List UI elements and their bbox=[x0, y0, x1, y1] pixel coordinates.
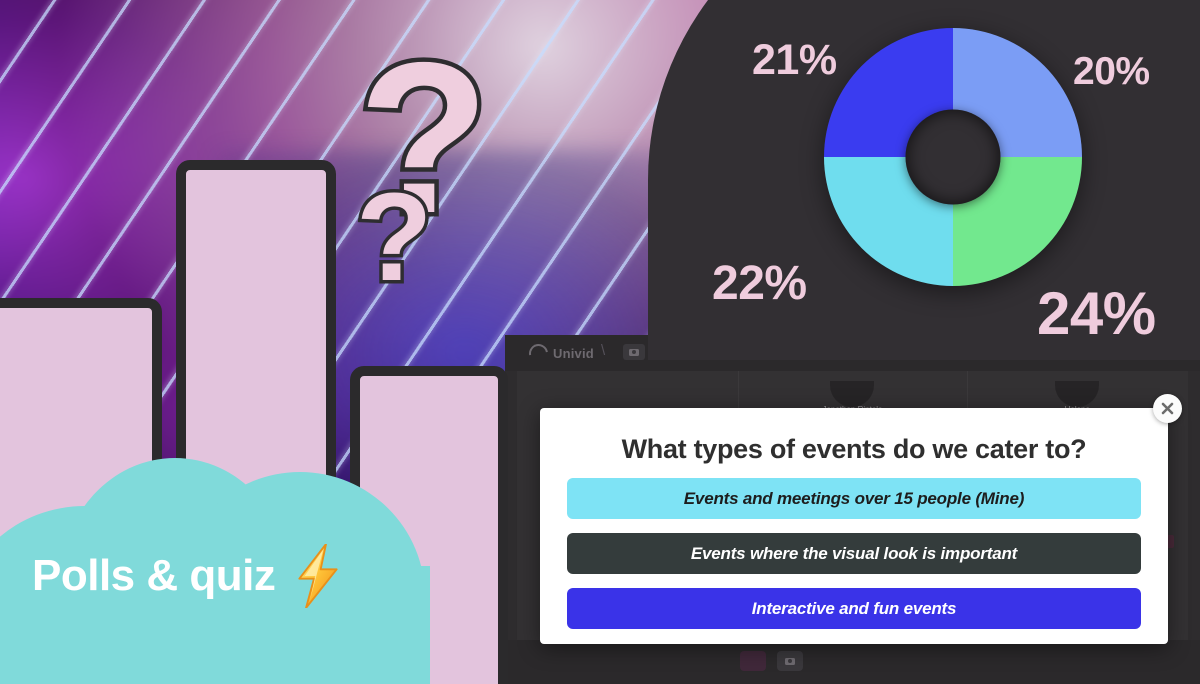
donut-label-bottom-right: 24% bbox=[1037, 279, 1156, 348]
close-icon[interactable] bbox=[1153, 394, 1182, 423]
univid-logo[interactable]: Univid bbox=[529, 344, 594, 363]
univid-logo-text: Univid bbox=[553, 346, 594, 361]
donut-label-top-right: 20% bbox=[1073, 50, 1150, 94]
toolbar-record-icon[interactable] bbox=[740, 651, 766, 671]
camera-icon[interactable] bbox=[623, 344, 645, 360]
poll-option-3[interactable]: Interactive and fun events bbox=[567, 588, 1141, 629]
poll-question: What types of events do we cater to? bbox=[540, 434, 1168, 465]
toolbar-camera-icon[interactable] bbox=[777, 651, 803, 671]
poll-options-list: Events and meetings over 15 people (Mine… bbox=[567, 478, 1141, 629]
question-mark-icon: ? bbox=[356, 175, 432, 300]
close-glyph bbox=[1161, 402, 1174, 415]
poll-option-2[interactable]: Events where the visual look is importan… bbox=[567, 533, 1141, 574]
participant-silhouette bbox=[830, 381, 874, 407]
poll-modal: What types of events do we cater to? Eve… bbox=[540, 408, 1168, 644]
video-call-toolbar bbox=[505, 640, 1200, 684]
lightning-bolt-icon bbox=[291, 544, 345, 608]
camera-glyph bbox=[785, 658, 795, 665]
donut-label-top-left: 21% bbox=[752, 36, 837, 85]
polls-quiz-badge: Polls & quiz bbox=[32, 544, 345, 608]
screenshot-root: Univid \ Jonathan Rintala Jonathan Rinta… bbox=[0, 0, 1200, 684]
donut-label-bottom-left: 22% bbox=[712, 256, 807, 311]
poll-option-1[interactable]: Events and meetings over 15 people (Mine… bbox=[567, 478, 1141, 519]
donut-chart bbox=[824, 28, 1082, 286]
polls-quiz-label: Polls & quiz bbox=[32, 554, 275, 598]
camera-glyph bbox=[629, 349, 639, 356]
donut-hole bbox=[906, 110, 1001, 205]
participant-silhouette bbox=[1055, 381, 1099, 407]
univid-swirl-icon bbox=[525, 340, 551, 366]
header-separator: \ bbox=[601, 342, 605, 359]
